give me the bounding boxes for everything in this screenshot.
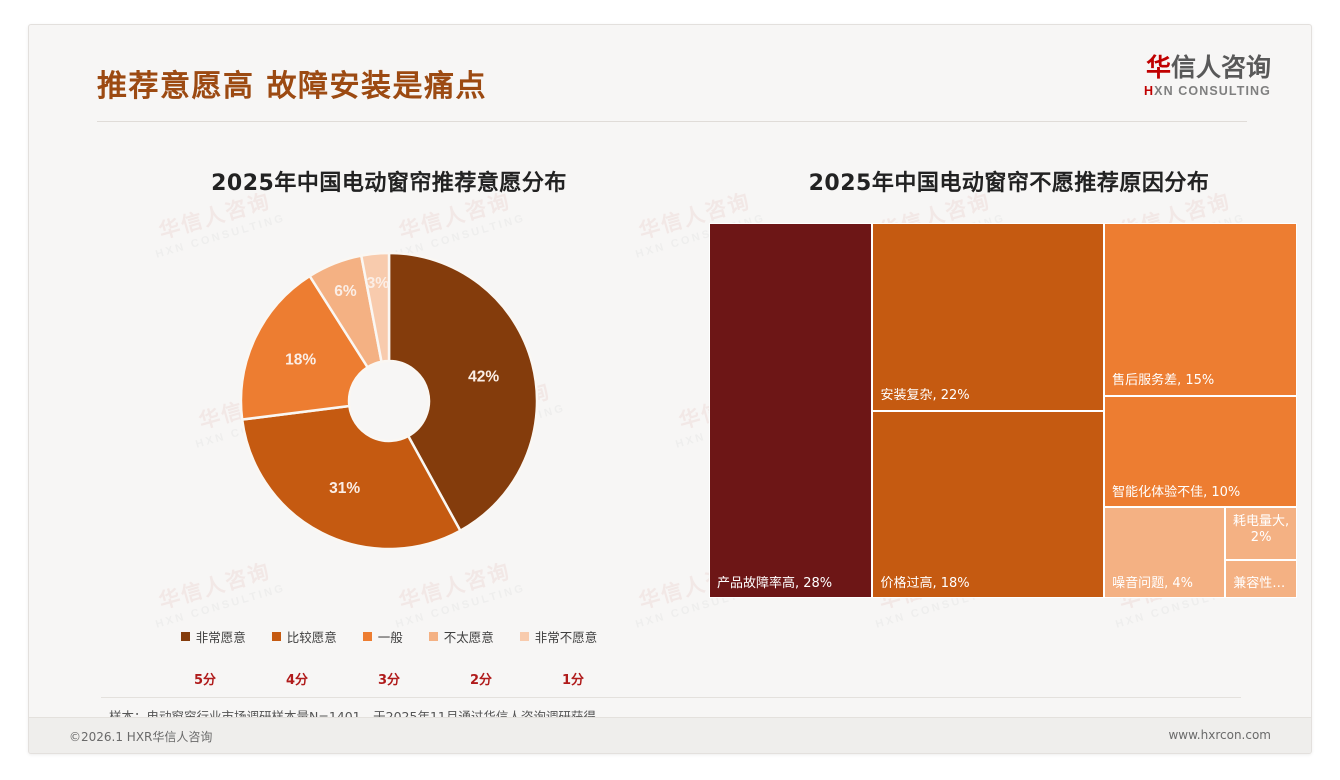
legend-label: 不太愿意 xyxy=(444,627,494,646)
legend-item[interactable]: 不太愿意 xyxy=(429,627,494,646)
legend-item[interactable]: 非常愿意 xyxy=(181,627,246,646)
legend-swatch-icon xyxy=(429,632,438,641)
legend-label: 比较愿意 xyxy=(287,627,337,646)
logo-en-rest: XN CONSULTING xyxy=(1154,84,1271,98)
logo-cn-accent: 华 xyxy=(1146,53,1171,82)
slide-canvas: 华信人咨询HXN CONSULTING华信人咨询HXN CONSULTING华信… xyxy=(28,24,1312,754)
header-divider xyxy=(97,121,1247,122)
donut-slice-label: 42% xyxy=(468,369,499,386)
treemap-tile[interactable]: 价格过高, 18% xyxy=(872,411,1104,599)
treemap-tile[interactable]: 产品故障率高, 28% xyxy=(709,223,872,598)
logo-en-accent: H xyxy=(1144,84,1154,98)
legend-swatch-icon xyxy=(363,632,372,641)
treemap-tile[interactable]: 噪音问题, 4% xyxy=(1104,507,1225,598)
legend-item[interactable]: 比较愿意 xyxy=(272,627,337,646)
treemap-chart-title: 2025年中国电动窗帘不愿推荐原因分布 xyxy=(709,165,1309,197)
treemap-tile[interactable]: 兼容性… xyxy=(1225,560,1297,598)
treemap-tile[interactable]: 安装复杂, 22% xyxy=(872,223,1104,411)
donut-score-row: 5分4分3分2分1分 xyxy=(89,669,689,688)
treemap-chart-area: 产品故障率高, 28%安装复杂, 22%价格过高, 18%售后服务差, 15%智… xyxy=(709,223,1297,598)
legend-swatch-icon xyxy=(520,632,529,641)
legend-label: 非常愿意 xyxy=(196,627,246,646)
donut-slice-label: 6% xyxy=(334,283,357,300)
logo-cn-text: 华信人咨询 xyxy=(1144,55,1271,81)
donut-chart-title: 2025年中国电动窗帘推荐意愿分布 xyxy=(89,165,689,197)
slide-footer: ©2026.1 HXR华信人咨询 www.hxrcon.com xyxy=(29,717,1311,753)
donut-chart-area: 42%31%18%6%3% xyxy=(89,211,689,591)
legend-item[interactable]: 非常不愿意 xyxy=(520,627,598,646)
treemap-chart-panel: 2025年中国电动窗帘不愿推荐原因分布 产品故障率高, 28%安装复杂, 22%… xyxy=(709,165,1309,705)
treemap-tile-label: 智能化体验不佳, 10% xyxy=(1112,485,1292,501)
logo-en-text: HXN CONSULTING xyxy=(1144,84,1271,98)
legend-label: 非常不愿意 xyxy=(535,627,598,646)
treemap-tile[interactable]: 智能化体验不佳, 10% xyxy=(1104,396,1297,507)
legend-label: 一般 xyxy=(378,627,403,646)
donut-slice-label: 31% xyxy=(329,480,360,497)
donut-slice-label: 3% xyxy=(367,275,390,292)
treemap-tile-label: 安装复杂, 22% xyxy=(880,388,1099,404)
score-label: 4分 xyxy=(251,669,343,688)
score-label: 5分 xyxy=(159,669,251,688)
donut-chart-panel: 2025年中国电动窗帘推荐意愿分布 42%31%18%6%3% 非常愿意比较愿意… xyxy=(89,165,689,705)
treemap-tile-label: 价格过高, 18% xyxy=(880,576,1099,592)
score-label: 1分 xyxy=(527,669,619,688)
donut-svg: 42%31%18%6%3% xyxy=(89,211,689,591)
legend-swatch-icon xyxy=(272,632,281,641)
score-label: 3分 xyxy=(343,669,435,688)
legend-item[interactable]: 一般 xyxy=(363,627,403,646)
slide-header: 推荐意愿高 故障安装是痛点 华信人咨询 HXN CONSULTING xyxy=(29,25,1311,123)
page-title: 推荐意愿高 故障安装是痛点 xyxy=(97,61,487,105)
footnote-divider xyxy=(101,697,1241,698)
treemap-tile-label: 售后服务差, 15% xyxy=(1112,373,1292,389)
footer-copyright: ©2026.1 HXR华信人咨询 xyxy=(69,728,212,745)
brand-logo: 华信人咨询 HXN CONSULTING xyxy=(1144,55,1271,98)
treemap-tile-label: 噪音问题, 4% xyxy=(1112,576,1220,592)
treemap-tile[interactable]: 售后服务差, 15% xyxy=(1104,223,1297,396)
legend-swatch-icon xyxy=(181,632,190,641)
treemap-tile-label: 耗电量大, 2% xyxy=(1230,514,1292,547)
score-label: 2分 xyxy=(435,669,527,688)
footer-website[interactable]: www.hxrcon.com xyxy=(1168,728,1271,742)
treemap-tile-label: 兼容性… xyxy=(1233,576,1292,592)
treemap-tile[interactable]: 耗电量大, 2% xyxy=(1225,507,1297,560)
donut-slice-label: 18% xyxy=(285,351,316,368)
donut-legend: 非常愿意比较愿意一般不太愿意非常不愿意 xyxy=(89,627,689,646)
logo-cn-rest: 信人咨询 xyxy=(1171,53,1271,82)
treemap-tile-label: 产品故障率高, 28% xyxy=(717,576,867,592)
